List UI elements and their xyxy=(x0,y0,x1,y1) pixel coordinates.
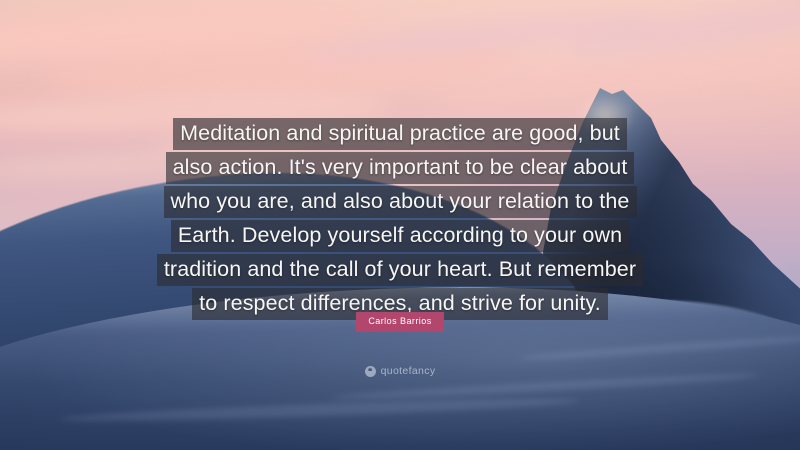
author-badge-container: Carlos Barrios xyxy=(0,312,800,332)
quote-line: also action. It's very important to be c… xyxy=(166,152,635,184)
watermark[interactable]: ❝ quotefancy xyxy=(0,366,800,377)
quote-line: Meditation and spiritual practice are go… xyxy=(173,118,627,150)
quote-mark-icon: ❝ xyxy=(365,366,376,377)
quote-line: tradition and the call of your heart. Bu… xyxy=(157,254,643,286)
author-name-badge[interactable]: Carlos Barrios xyxy=(356,312,443,332)
watermark-brand: quotefancy xyxy=(381,366,436,377)
quote-image: Meditation and spiritual practice are go… xyxy=(0,0,800,450)
quote-block: Meditation and spiritual practice are go… xyxy=(0,118,800,322)
quote-line: Earth. Develop yourself according to you… xyxy=(171,220,629,252)
quote-line: who you are, and also about your relatio… xyxy=(164,186,637,218)
